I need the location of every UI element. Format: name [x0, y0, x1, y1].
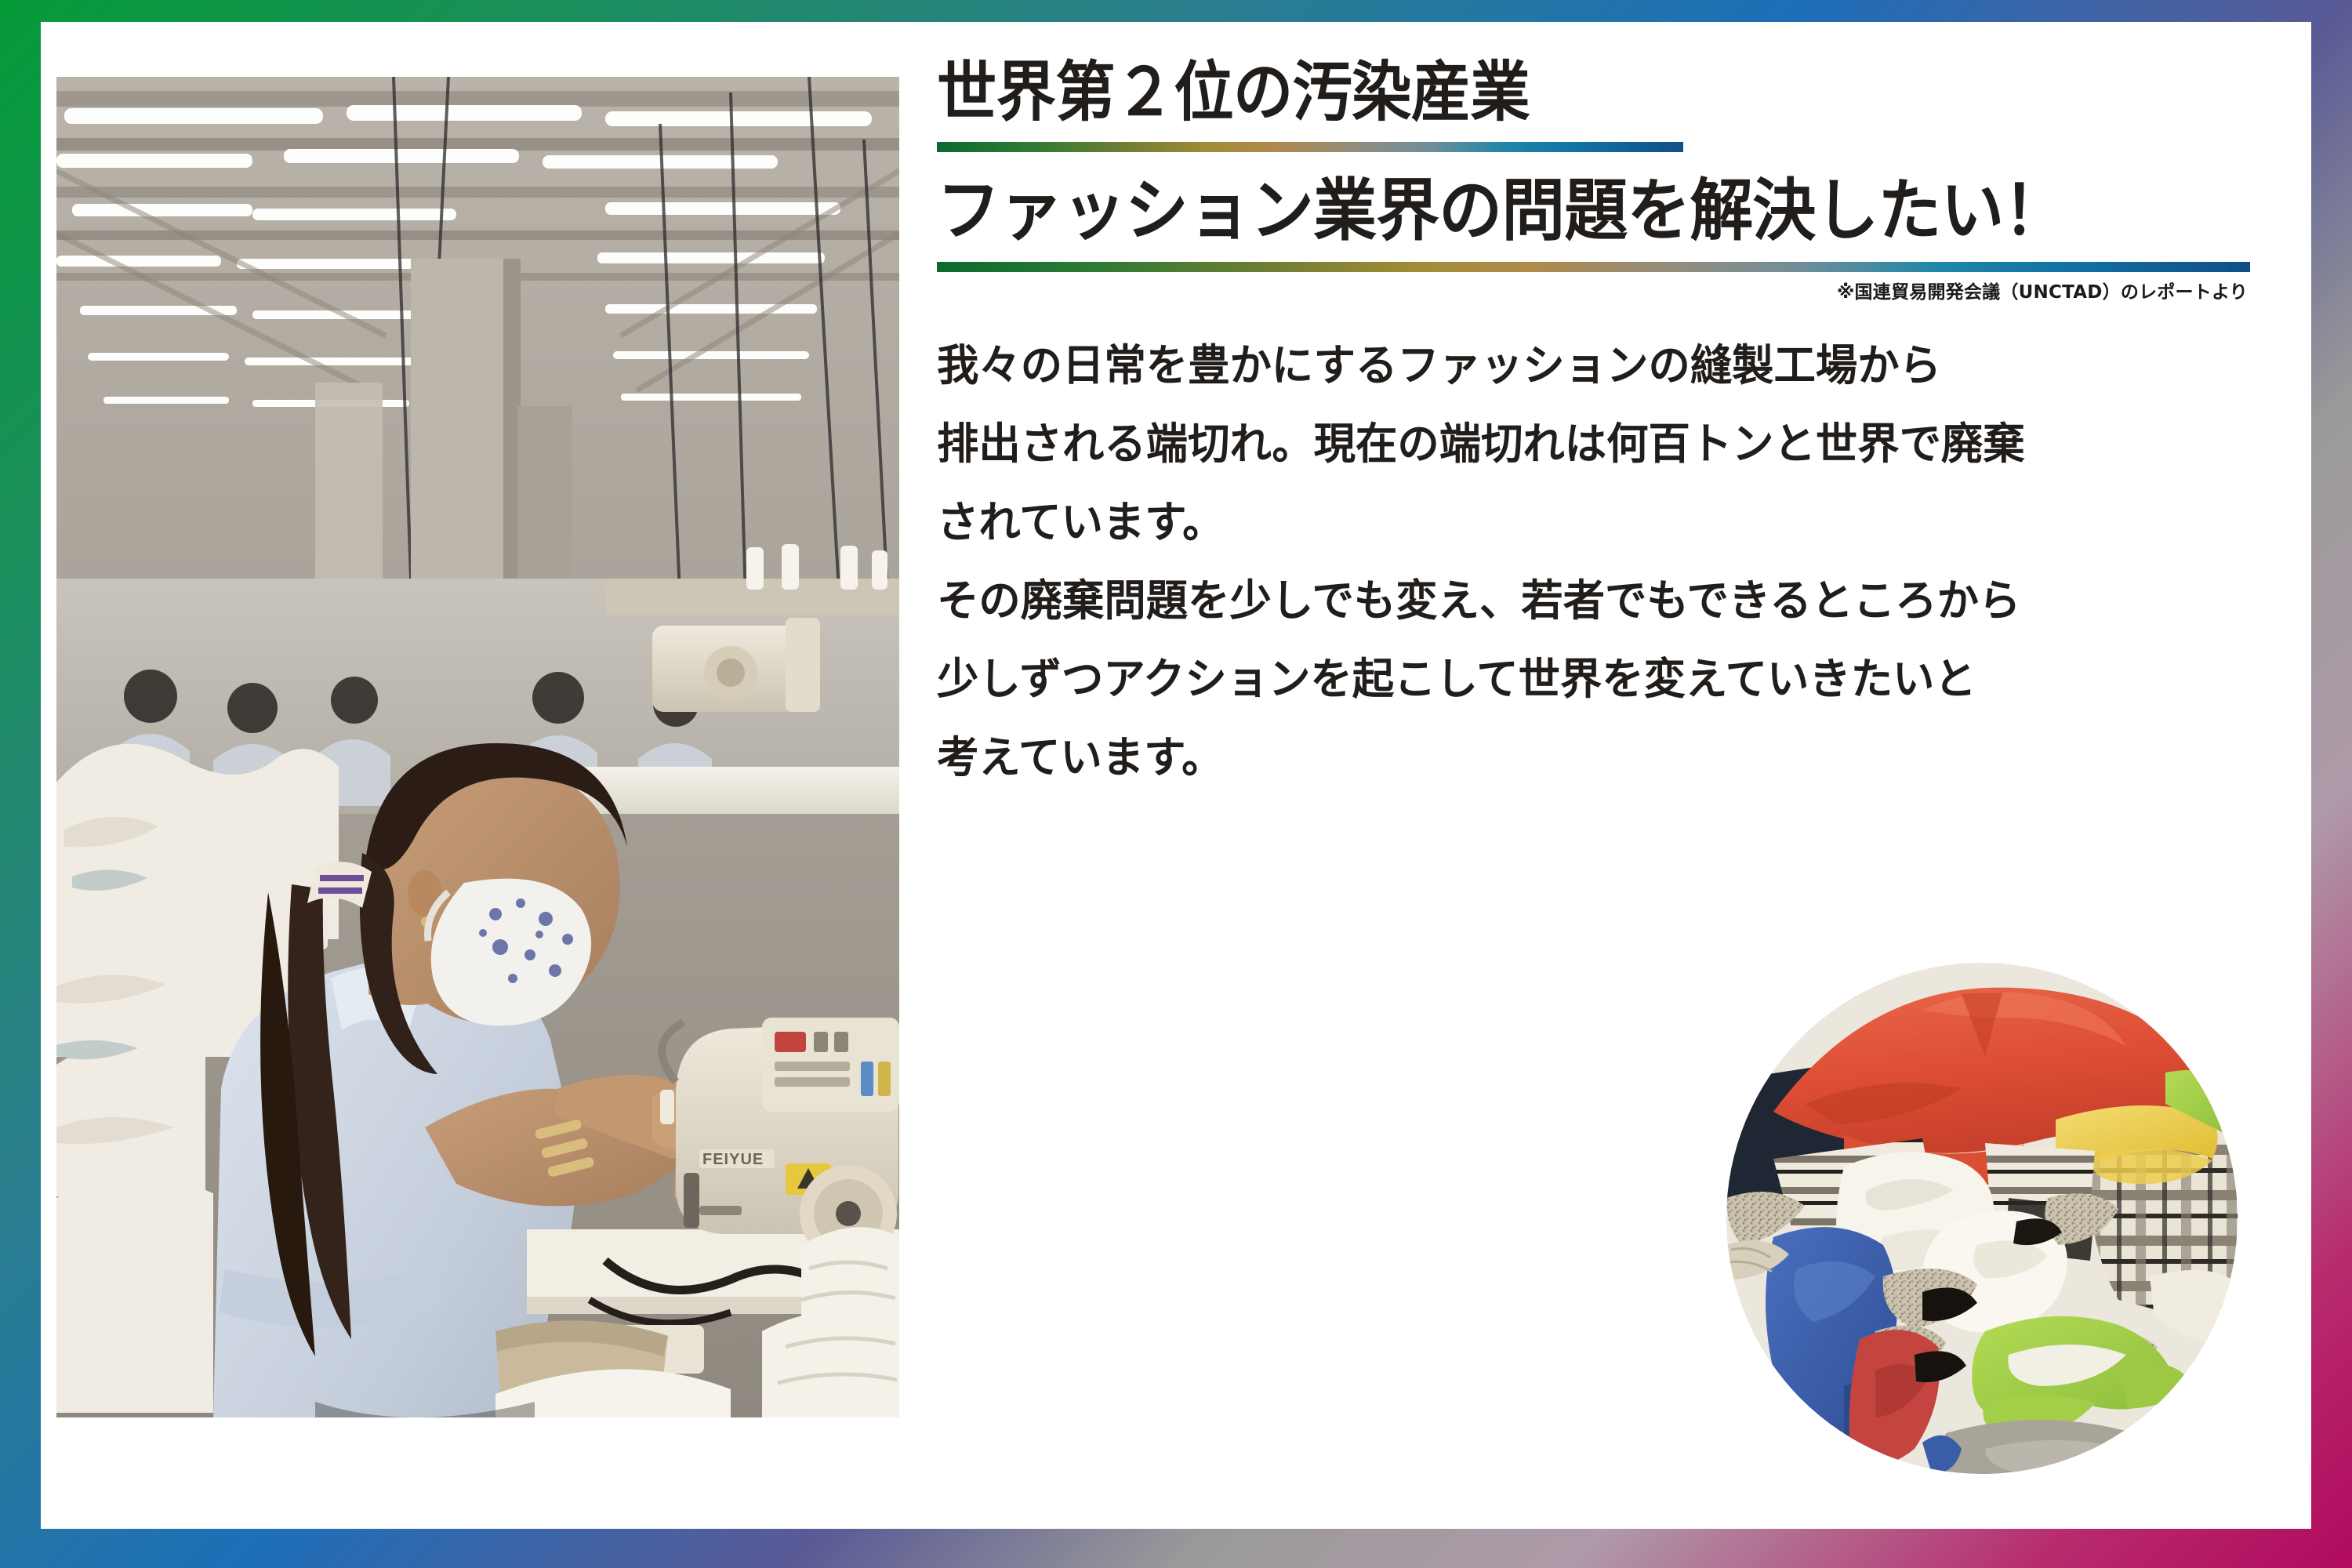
- headline-secondary: ファッション業界の問題を解決したい！: [937, 177, 2067, 245]
- slide-canvas: FEIYUE: [0, 0, 2352, 1568]
- body-line: 我々の日常を豊かにするファッションの縫製工場から: [937, 326, 2230, 405]
- headline-divider-bottom: [937, 262, 2250, 272]
- fabric-scraps-photo: [1726, 963, 2238, 1474]
- svg-text:FEIYUE: FEIYUE: [702, 1151, 764, 1168]
- slide-white-card: FEIYUE: [41, 22, 2311, 1529]
- body-line: 少しずつアクションを起こして世界を変えていきたいと: [937, 640, 2230, 718]
- body-copy: 我々の日常を豊かにするファッションの縫製工場から 排出される端切れ。現在の端切れ…: [937, 326, 2270, 797]
- body-line: その廃棄問題を少しでも変え、若者でもできるところから: [937, 561, 2230, 640]
- garment-factory-photo: FEIYUE: [56, 77, 899, 1417]
- body-line: されています。: [937, 483, 2230, 561]
- headline-divider-top: [937, 142, 1683, 152]
- body-line: 考えています。: [937, 718, 2230, 797]
- headline-primary: 世界第２位の汚染産業: [937, 60, 1530, 125]
- body-line: 排出される端切れ。現在の端切れは何百トンと世界で廃棄: [937, 405, 2230, 483]
- source-attribution-note: ※国連貿易開発会議（UNCTAD）のレポートより: [1837, 277, 2248, 303]
